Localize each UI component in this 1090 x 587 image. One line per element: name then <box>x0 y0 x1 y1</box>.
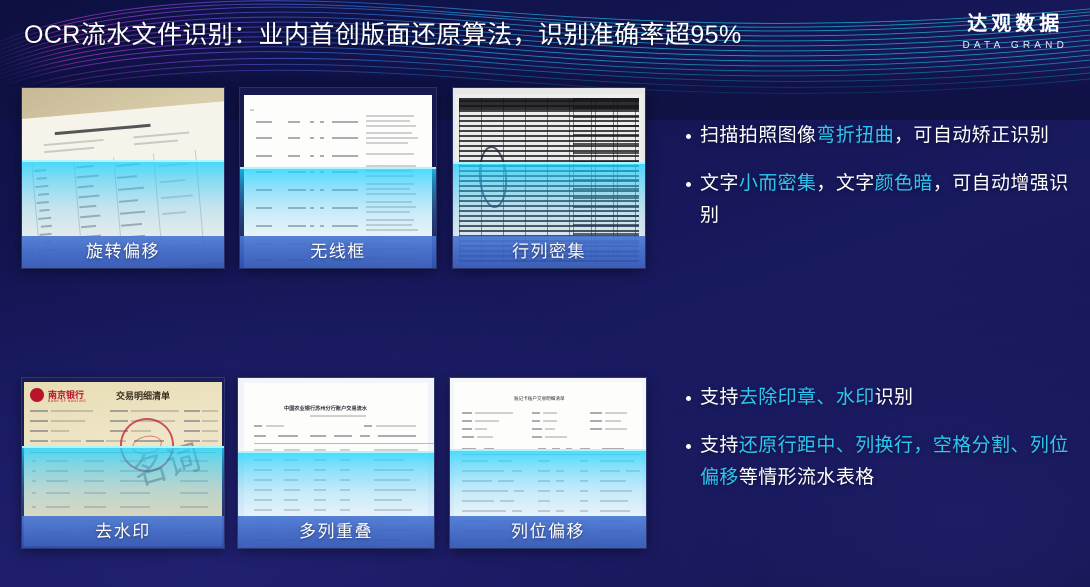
thumbnail-caption: 旋转偏移 <box>22 236 224 268</box>
thumbnail-caption: 无线框 <box>240 236 436 268</box>
slide-root: OCR流水文件识别：业内首创版面还原算法，识别准确率超95% 达观数据 DATA… <box>0 0 1090 587</box>
bullet-item: 支持去除印章、水印识别 <box>686 382 1078 414</box>
brand-logo: 达观数据 DATA GRAND <box>958 12 1068 53</box>
receipt-bank-name-en: BANK OF NANJING <box>48 399 86 403</box>
bullet-text: 支持去除印章、水印识别 <box>700 382 913 414</box>
thumbnail-caption: 去水印 <box>22 516 224 548</box>
thumbnail-column-offset[interactable]: 账记卡账户交易明细清单 <box>450 378 646 548</box>
thumbnail-remove-watermark[interactable]: 南京银行 BANK OF NANJING 交易明细清单 <box>22 378 224 548</box>
bullet-dot-icon <box>686 396 691 401</box>
plain-phrase: 扫描拍照图像 <box>700 125 816 146</box>
thumbnail-borderless-table[interactable]: 无线框 <box>240 88 436 268</box>
plain-phrase: 识别 <box>875 387 914 408</box>
plain-phrase: 支持 <box>700 387 739 408</box>
receipt-title: 交易明细清单 <box>116 389 170 402</box>
detail-title: 账记卡账户交易明细清单 <box>514 396 565 402</box>
thumbnail-caption: 列位偏移 <box>450 516 646 548</box>
thumbnail-caption: 行列密集 <box>453 236 645 268</box>
bullet-item: 支持还原行距中、列换行，空格分割、列位偏移等情形流水表格 <box>686 430 1078 494</box>
highlighted-phrase: 颜色暗 <box>875 173 933 194</box>
plain-phrase: ，文字 <box>816 173 874 194</box>
thumbnail-grid: 旋转偏移 <box>0 0 670 587</box>
bullet-text: 支持还原行距中、列换行，空格分割、列位偏移等情形流水表格 <box>700 430 1078 494</box>
bullet-text: 扫描拍照图像弯折扭曲，可自动矫正识别 <box>700 120 1049 152</box>
thumbnail-rotated-offset[interactable]: 旋转偏移 <box>22 88 224 268</box>
highlighted-phrase: 弯折扭曲 <box>816 125 894 146</box>
highlighted-phrase: 去除印章、水印 <box>739 387 875 408</box>
highlighted-phrase: 小而密集 <box>739 173 817 194</box>
bullet-list-top: 扫描拍照图像弯折扭曲，可自动矫正识别 文字小而密集，文字颜色暗，可自动增强识别 <box>686 120 1078 248</box>
bullet-list-bottom: 支持去除印章、水印识别 支持还原行距中、列换行，空格分割、列位偏移等情形流水表格 <box>686 382 1078 510</box>
bullet-text: 文字小而密集，文字颜色暗，可自动增强识别 <box>700 168 1078 232</box>
brand-logo-en: DATA GRAND <box>958 38 1068 53</box>
bullet-dot-icon <box>686 444 691 449</box>
plain-phrase: 支持 <box>700 435 739 456</box>
bullet-item: 文字小而密集，文字颜色暗，可自动增强识别 <box>686 168 1078 232</box>
bullet-dot-icon <box>686 182 691 187</box>
plain-phrase: ，可自动矫正识别 <box>894 125 1049 146</box>
brand-logo-cn: 达观数据 <box>958 12 1068 37</box>
bullet-dot-icon <box>686 134 691 139</box>
bullet-item: 扫描拍照图像弯折扭曲，可自动矫正识别 <box>686 120 1078 152</box>
thumbnail-caption: 多列重叠 <box>238 516 434 548</box>
thumbnail-overlapping-columns[interactable]: 中国农业银行苏州分行账户交易流水 <box>238 378 434 548</box>
thumbnail-dense-grid[interactable]: 行列密集 <box>453 88 645 268</box>
statement-title: 中国农业银行苏州分行账户交易流水 <box>284 405 367 412</box>
plain-phrase: 文字 <box>700 173 739 194</box>
plain-phrase: 等情形流水表格 <box>739 467 875 488</box>
